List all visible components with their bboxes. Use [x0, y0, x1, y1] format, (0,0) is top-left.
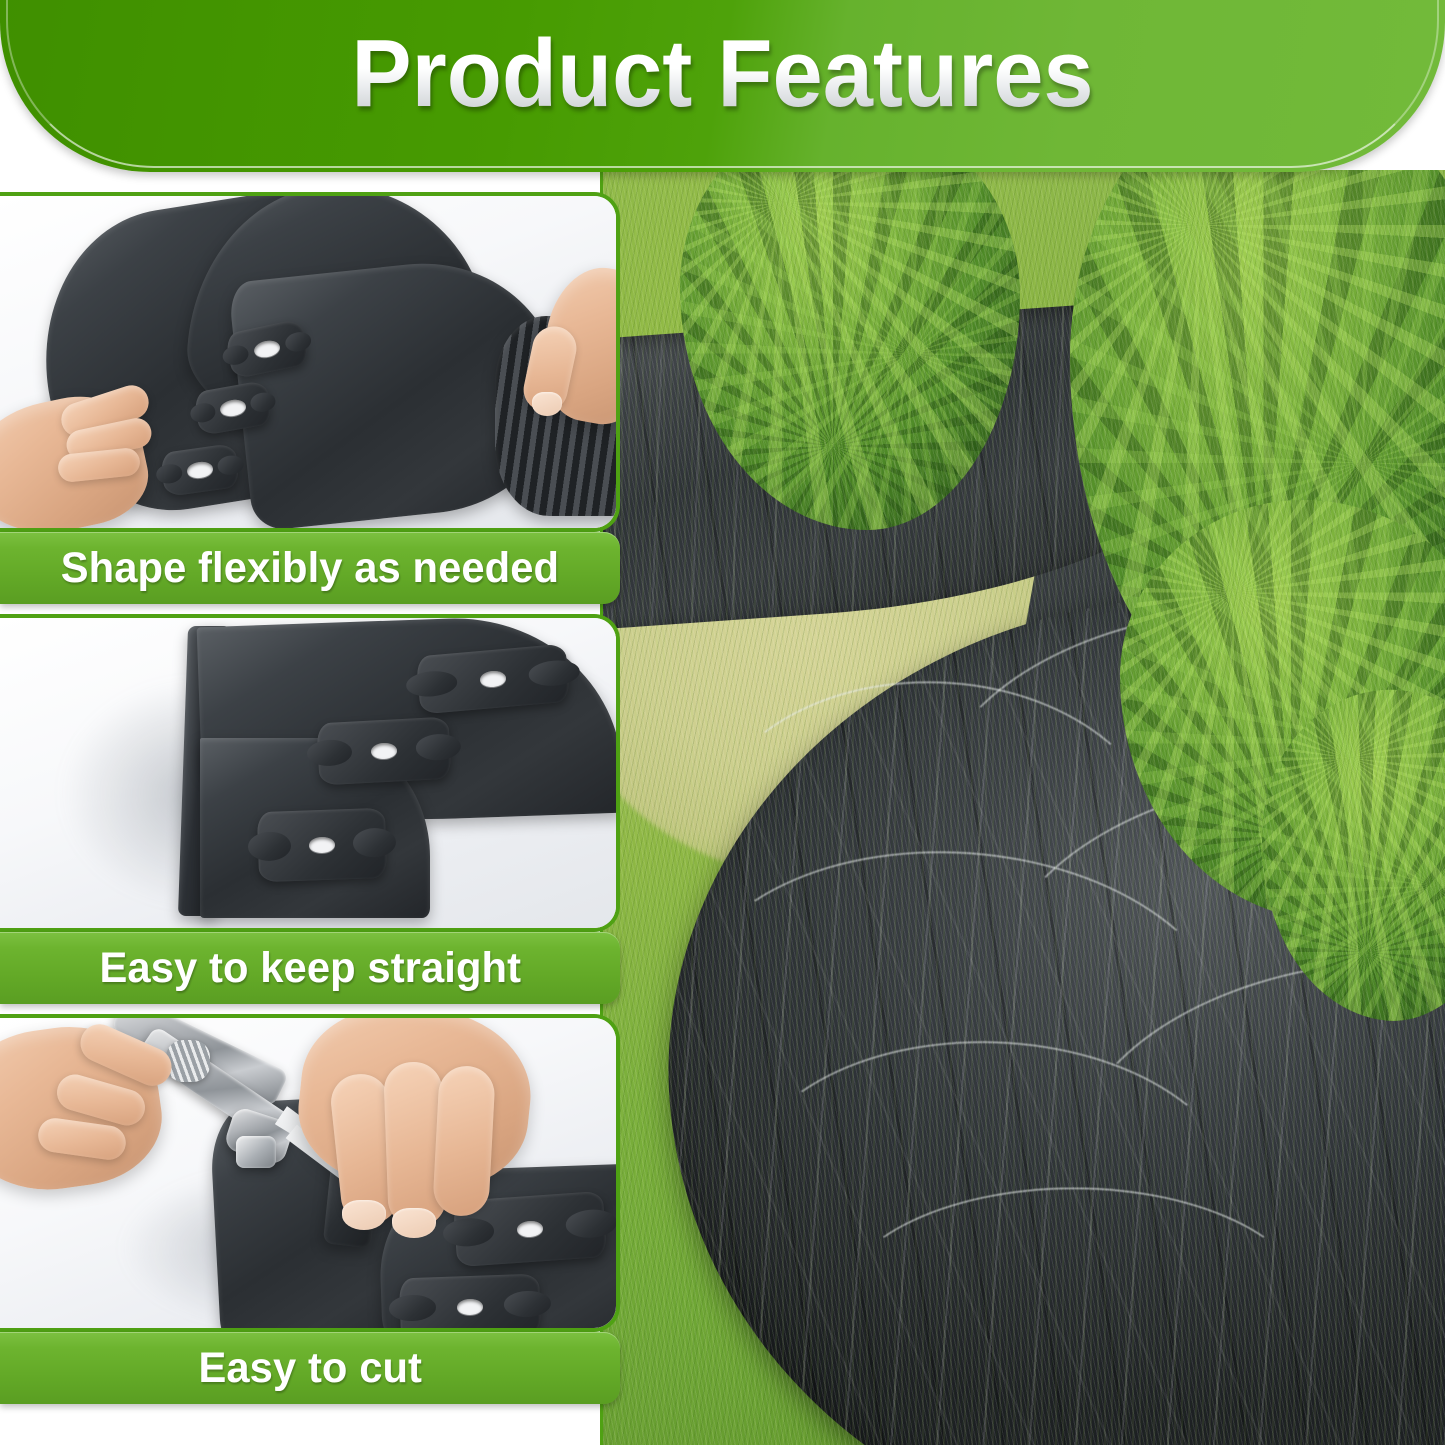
page-title: Product Features — [43, 26, 1401, 122]
feature-label-text: Easy to cut — [198, 1344, 422, 1393]
feature-panel-keep-straight — [0, 614, 620, 932]
shears-bolt — [236, 1136, 276, 1168]
feature-panel-shape-flexibly — [0, 192, 620, 532]
infographic-canvas: Product Features — [0, 0, 1445, 1445]
feature-image-keep-straight — [0, 618, 616, 928]
feature-label-easy-to-cut: Easy to cut — [0, 1332, 620, 1404]
shears-spring — [166, 1040, 210, 1082]
feature-label-text: Shape flexibly as needed — [61, 544, 559, 593]
feature-label-shape-flexibly: Shape flexibly as needed — [0, 532, 620, 604]
feature-label-keep-straight: Easy to keep straight — [0, 932, 620, 1004]
feature-panel-easy-to-cut — [0, 1014, 620, 1332]
feature-label-text: Easy to keep straight — [99, 944, 521, 993]
feature-image-easy-to-cut — [0, 1018, 616, 1328]
hero-garden-photo — [600, 170, 1445, 1445]
grass-texture-overlay — [600, 170, 1445, 1445]
feature-image-shape-flexibly — [0, 196, 616, 528]
page-header: Product Features — [0, 0, 1445, 172]
